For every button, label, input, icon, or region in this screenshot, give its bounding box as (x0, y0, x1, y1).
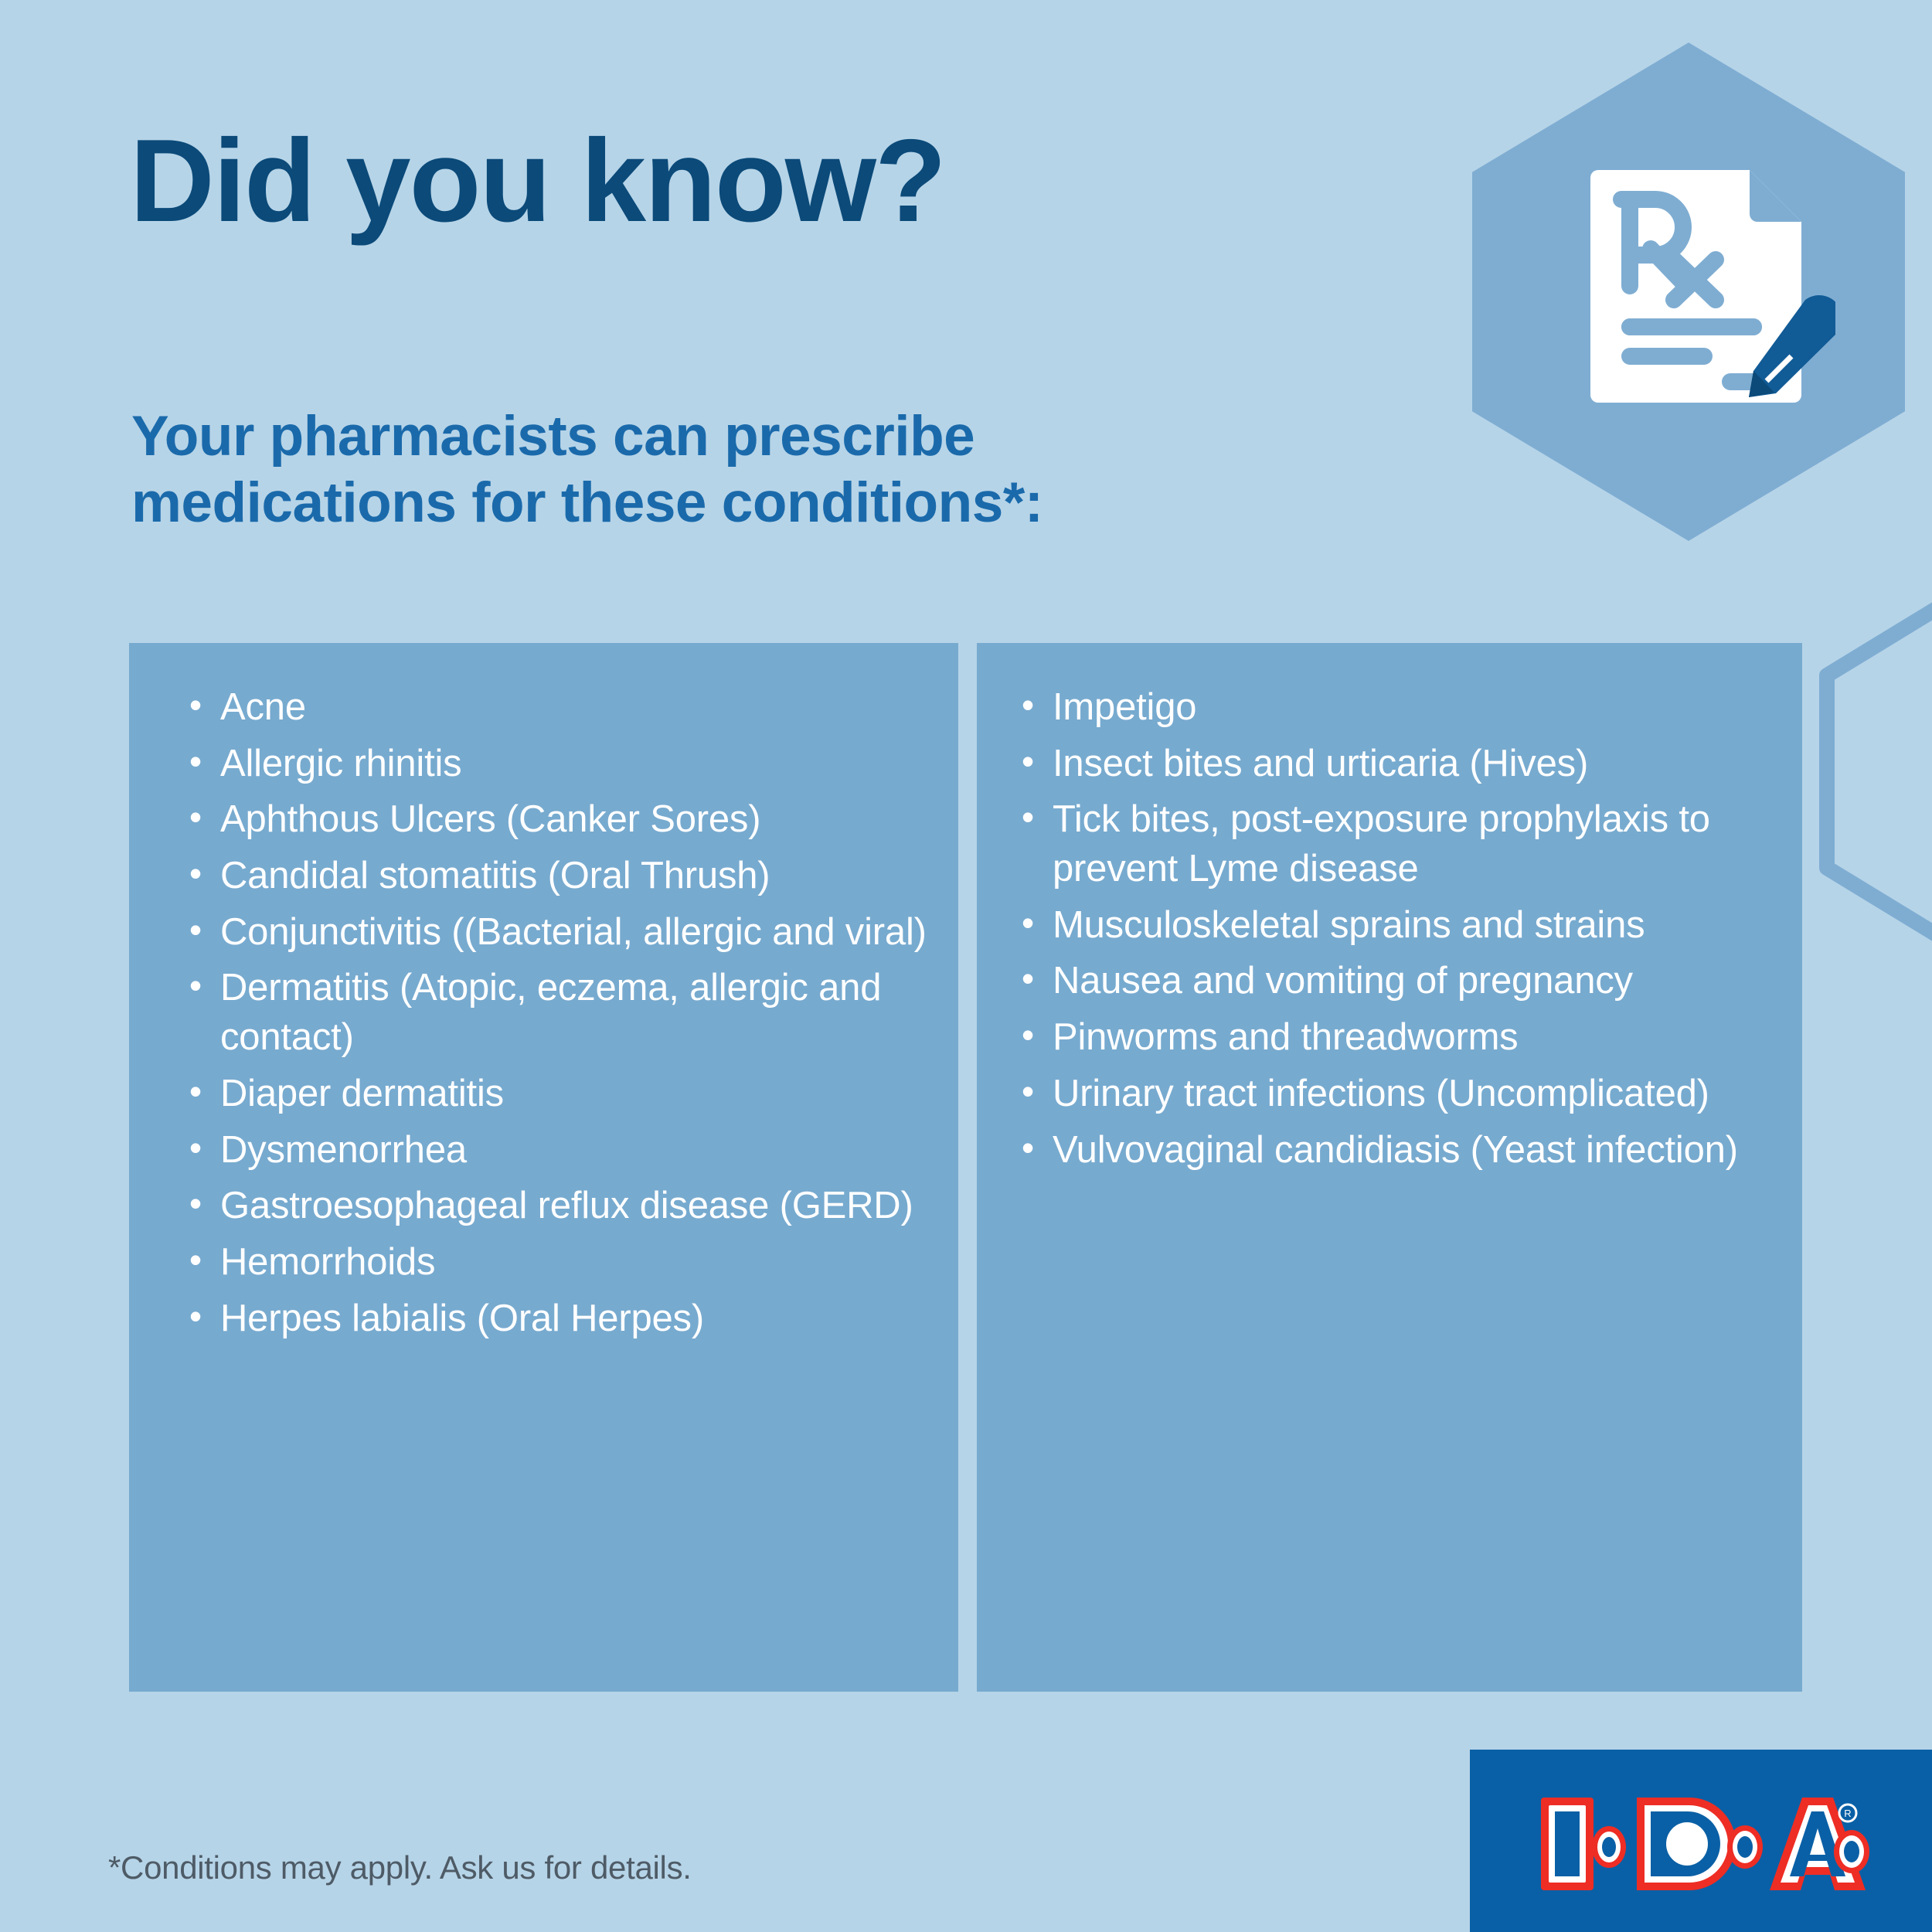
conditions-panel-left: AcneAllergic rhinitisAphthous Ulcers (Ca… (129, 643, 958, 1692)
condition-list-item: Nausea and vomiting of pregnancy (1015, 957, 1771, 1006)
condition-list-item: Hemorrhoids (183, 1238, 927, 1287)
condition-list-item: Conjunctivitis ((Bacterial, allergic and… (183, 908, 927, 957)
condition-list-item: Musculoskeletal sprains and strains (1015, 901, 1771, 951)
conditions-list-right: ImpetigoInsect bites and urticaria (Hive… (1015, 683, 1771, 1175)
rx-prescription-document-icon (1584, 168, 1835, 404)
condition-list-item: Gastroesophageal reflux disease (GERD) (183, 1182, 927, 1231)
subtitle-line-2: medications for these conditions*: (131, 470, 1252, 536)
condition-list-item: Aphthous Ulcers (Canker Sores) (183, 795, 927, 845)
svg-text:R: R (1844, 1808, 1851, 1819)
condition-list-item: Pinworms and threadworms (1015, 1013, 1771, 1063)
page-subtitle: Your pharmacists can prescribe medicatio… (131, 403, 1252, 536)
ida-logo-icon: R (1538, 1794, 1870, 1893)
conditions-list-left: AcneAllergic rhinitisAphthous Ulcers (Ca… (183, 683, 927, 1343)
conditions-panel-right: ImpetigoInsect bites and urticaria (Hive… (977, 643, 1802, 1692)
condition-list-item: Candidal stomatitis (Oral Thrush) (183, 852, 927, 901)
conditions-panels: AcneAllergic rhinitisAphthous Ulcers (Ca… (129, 643, 1802, 1692)
condition-list-item: Vulvovaginal candidiasis (Yeast infectio… (1015, 1126, 1771, 1175)
condition-list-item: Allergic rhinitis (183, 740, 927, 789)
condition-list-item: Dermatitis (Atopic, eczema, allergic and… (183, 964, 927, 1062)
hexagon-outline-shape (1818, 561, 1932, 982)
condition-list-item: Impetigo (1015, 683, 1771, 733)
ida-logo-block: R (1470, 1750, 1932, 1932)
condition-list-item: Herpes labialis (Oral Herpes) (183, 1294, 927, 1344)
condition-list-item: Insect bites and urticaria (Hives) (1015, 740, 1771, 789)
condition-list-item: Acne (183, 683, 927, 733)
footnote-disclaimer: *Conditions may apply. Ask us for detail… (108, 1849, 692, 1886)
page-title: Did you know? (130, 122, 945, 240)
poster-canvas: Did you know? Your pharmacists can presc… (0, 0, 1932, 1932)
condition-list-item: Tick bites, post-exposure prophylaxis to… (1015, 795, 1771, 893)
condition-list-item: Urinary tract infections (Uncomplicated) (1015, 1070, 1771, 1119)
condition-list-item: Dysmenorrhea (183, 1126, 927, 1175)
subtitle-line-1: Your pharmacists can prescribe (131, 403, 1252, 470)
condition-list-item: Diaper dermatitis (183, 1070, 927, 1119)
